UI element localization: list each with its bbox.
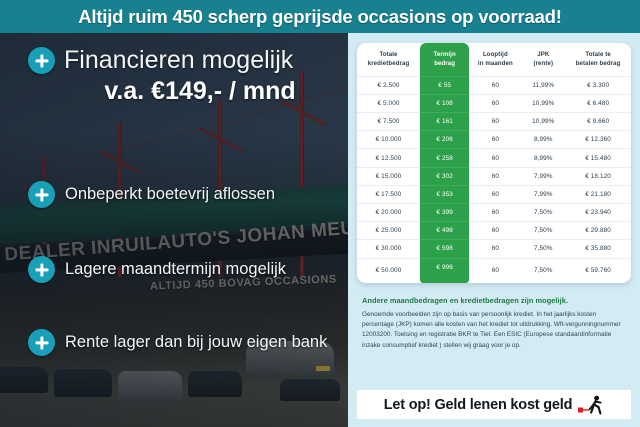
cell-termijn: € 598 <box>420 240 469 258</box>
cell-looptijd: 60 <box>469 258 521 283</box>
cell-totaal: € 35.880 <box>565 240 631 258</box>
table-row: € 10.000€ 206608,99%€ 12.360 <box>357 131 631 149</box>
cell-totaal: € 29.880 <box>565 222 631 240</box>
bullet-item-3: Rente lager dan bij jouw eigen bank <box>28 329 327 356</box>
cell-looptijd: 60 <box>469 76 521 94</box>
cell-krediet: € 17.500 <box>357 185 420 203</box>
table-row: € 50.000€ 996607,50%€ 59.760 <box>357 258 631 283</box>
cell-looptijd: 60 <box>469 167 521 185</box>
cell-looptijd: 60 <box>469 149 521 167</box>
col-header-line1: Totale <box>379 51 397 58</box>
rates-table-card: Totale kredietbedrag Termijn bedrag Loop… <box>357 43 631 283</box>
cell-termijn: € 302 <box>420 167 469 185</box>
table-row: € 25.000€ 498607,50%€ 29.880 <box>357 222 631 240</box>
cell-termijn: € 55 <box>420 76 469 94</box>
cell-jkp: 7,50% <box>521 240 565 258</box>
warning-text: Let op! Geld lenen kost geld <box>384 397 573 413</box>
col-header-krediet: Totale kredietbedrag <box>357 43 420 76</box>
bullet-label: Onbeperkt boetevrij aflossen <box>65 185 275 204</box>
plus-circle-icon <box>28 181 55 208</box>
cell-krediet: € 2.500 <box>357 76 420 94</box>
cell-looptijd: 60 <box>469 222 521 240</box>
cell-jkp: 7,50% <box>521 222 565 240</box>
cell-krediet: € 15.000 <box>357 167 420 185</box>
headline-block: Financieren mogelijk v.a. €149,- / mnd <box>28 47 346 104</box>
plus-circle-icon <box>28 47 55 74</box>
headline-line-2: v.a. €149,- / mnd <box>54 78 346 104</box>
table-row: € 17.500€ 353607,99%€ 21.180 <box>357 185 631 203</box>
cell-termijn: € 206 <box>420 131 469 149</box>
headline-line-1: Financieren mogelijk <box>64 47 293 73</box>
cell-totaal: € 23.940 <box>565 203 631 221</box>
plus-circle-icon <box>28 256 55 283</box>
col-header-line1: Looptijd <box>483 51 508 58</box>
cell-krediet: € 25.000 <box>357 222 420 240</box>
running-man-ball-and-chain-icon <box>578 395 604 415</box>
cell-termijn: € 399 <box>420 203 469 221</box>
bullet-item-2: Lagere maandtermijn mogelijk <box>28 256 286 283</box>
cell-jkp: 11,99% <box>521 76 565 94</box>
cell-krediet: € 12.500 <box>357 149 420 167</box>
promo-banner: DEALER INRUILAUTO'S JOHAN MEURE ALTIJD 4… <box>0 0 640 427</box>
cell-jkp: 10,99% <box>521 94 565 112</box>
col-header-line1: Totale te <box>585 51 611 58</box>
cell-termijn: € 258 <box>420 149 469 167</box>
rates-table-body: € 2.500€ 556011,99%€ 3.300€ 5.000€ 10860… <box>357 76 631 282</box>
cell-termijn: € 161 <box>420 113 469 131</box>
cell-krediet: € 50.000 <box>357 258 420 283</box>
table-row: € 12.500€ 258608,99%€ 15.480 <box>357 149 631 167</box>
col-header-termijn: Termijn bedrag <box>420 43 469 76</box>
header-title: Altijd ruim 450 scherp geprijsde occasio… <box>78 6 562 28</box>
footnote-heading: Andere maandbedragen en kredietbedragen … <box>362 296 626 305</box>
col-header-line2: betalen bedrag <box>576 60 621 67</box>
table-header-row: Totale kredietbedrag Termijn bedrag Loop… <box>357 43 631 76</box>
col-header-line1: Termijn <box>434 51 456 58</box>
rates-panel: Totale kredietbedrag Termijn bedrag Loop… <box>348 33 640 427</box>
cell-krediet: € 10.000 <box>357 131 420 149</box>
cell-totaal: € 15.480 <box>565 149 631 167</box>
bullet-item-1: Onbeperkt boetevrij aflossen <box>28 181 275 208</box>
cell-termijn: € 353 <box>420 185 469 203</box>
col-header-jkp: JPK (rente) <box>521 43 565 76</box>
cell-jkp: 7,99% <box>521 185 565 203</box>
cell-totaal: € 18.120 <box>565 167 631 185</box>
cell-jkp: 7,50% <box>521 258 565 283</box>
cell-looptijd: 60 <box>469 203 521 221</box>
cell-totaal: € 59.760 <box>565 258 631 283</box>
cell-looptijd: 60 <box>469 113 521 131</box>
rates-table: Totale kredietbedrag Termijn bedrag Loop… <box>357 43 631 283</box>
col-header-line2: in maanden <box>478 60 513 67</box>
left-content-column: Financieren mogelijk v.a. €149,- / mnd O… <box>0 33 348 427</box>
cell-jkp: 10,99% <box>521 113 565 131</box>
table-row: € 2.500€ 556011,99%€ 3.300 <box>357 76 631 94</box>
bullet-label: Lagere maandtermijn mogelijk <box>65 260 286 279</box>
cell-totaal: € 9.660 <box>565 113 631 131</box>
cell-termijn: € 996 <box>420 258 469 283</box>
rates-table-head: Totale kredietbedrag Termijn bedrag Loop… <box>357 43 631 76</box>
cell-krediet: € 5.000 <box>357 94 420 112</box>
cell-jkp: 7,99% <box>521 167 565 185</box>
cell-looptijd: 60 <box>469 131 521 149</box>
cell-krediet: € 30.000 <box>357 240 420 258</box>
header-bar: Altijd ruim 450 scherp geprijsde occasio… <box>0 0 640 33</box>
table-row: € 30.000€ 598607,50%€ 35.880 <box>357 240 631 258</box>
footnote-body: Genoemde voorbeelden zijn op basis van p… <box>362 310 626 352</box>
cell-jkp: 7,50% <box>521 203 565 221</box>
col-header-looptijd: Looptijd in maanden <box>469 43 521 76</box>
cell-totaal: € 21.180 <box>565 185 631 203</box>
cell-totaal: € 6.480 <box>565 94 631 112</box>
cell-looptijd: 60 <box>469 185 521 203</box>
warning-bar: Let op! Geld lenen kost geld <box>357 390 631 419</box>
col-header-totaal: Totale te betalen bedrag <box>565 43 631 76</box>
col-header-line2: kredietbedrag <box>368 60 410 67</box>
cell-looptijd: 60 <box>469 240 521 258</box>
table-row: € 20.000€ 399607,50%€ 23.940 <box>357 203 631 221</box>
cell-totaal: € 3.300 <box>565 76 631 94</box>
cell-termijn: € 498 <box>420 222 469 240</box>
plus-circle-icon <box>28 329 55 356</box>
cell-looptijd: 60 <box>469 94 521 112</box>
headline-row: Financieren mogelijk <box>28 47 346 74</box>
table-row: € 5.000€ 1086010,99%€ 6.480 <box>357 94 631 112</box>
table-row: € 15.000€ 302607,99%€ 18.120 <box>357 167 631 185</box>
cell-jkp: 8,99% <box>521 149 565 167</box>
col-header-line2: (rente) <box>533 60 553 67</box>
cell-krediet: € 7.500 <box>357 113 420 131</box>
cell-totaal: € 12.360 <box>565 131 631 149</box>
table-row: € 7.500€ 1616010,99%€ 9.660 <box>357 113 631 131</box>
cell-termijn: € 108 <box>420 94 469 112</box>
bullet-label: Rente lager dan bij jouw eigen bank <box>65 333 327 352</box>
col-header-line2: bedrag <box>434 60 455 67</box>
cell-jkp: 8,99% <box>521 131 565 149</box>
cell-krediet: € 20.000 <box>357 203 420 221</box>
col-header-line1: JPK <box>537 51 549 58</box>
